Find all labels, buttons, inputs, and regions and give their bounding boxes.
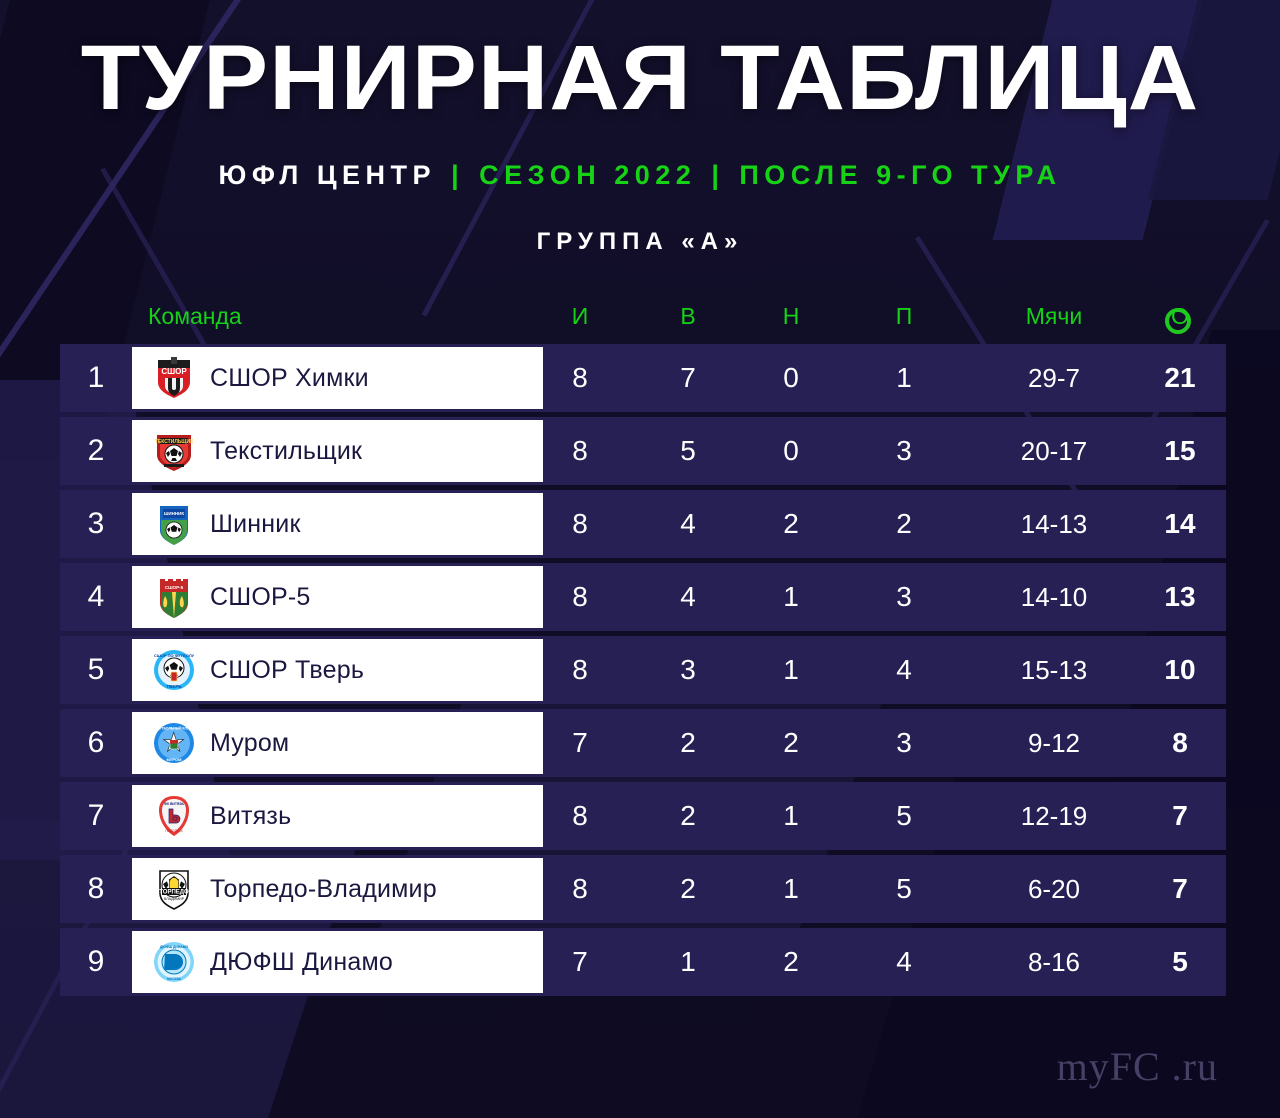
row-goals: 12-19 <box>1010 782 1098 850</box>
row-won: 3 <box>668 636 708 704</box>
vityaz-logo: ФК ВИТЯЗЬ ПОДОЛЬСК <box>152 794 196 838</box>
svg-text:ВЛАДИМИР: ВЛАДИМИР <box>164 897 185 901</box>
row-rank: 3 <box>60 490 132 558</box>
row-points: 15 <box>1160 417 1200 485</box>
row-drawn: 1 <box>771 855 811 923</box>
column-header-lost: П <box>884 296 924 336</box>
row-rank: 8 <box>60 855 132 923</box>
row-points: 13 <box>1160 563 1200 631</box>
row-goals: 29-7 <box>1010 344 1098 412</box>
svg-text:СШОР-5: СШОР-5 <box>165 585 184 590</box>
row-rank: 1 <box>60 344 132 412</box>
row-played: 8 <box>560 417 600 485</box>
team-cell[interactable]: ДЮФШ ДИНАМО МОСКВА ДЮФШ Динамо <box>132 931 543 993</box>
row-won: 1 <box>668 928 708 996</box>
column-header-team: Команда <box>148 296 242 336</box>
row-points: 8 <box>1160 709 1200 777</box>
table-row[interactable]: 4 СШОР-5 СШОР-5841314-1013 <box>60 563 1226 631</box>
watermark: myFC .ru <box>1057 1043 1218 1090</box>
row-drawn: 2 <box>771 709 811 777</box>
team-name: Витязь <box>210 802 291 831</box>
row-lost: 5 <box>884 855 924 923</box>
team-name: Текстильщик <box>210 437 362 466</box>
svg-text:СШОР: СШОР <box>161 367 187 376</box>
table-row[interactable]: 7 ФК ВИТЯЗЬ ПОДОЛЬСК Витязь821512-197 <box>60 782 1226 850</box>
row-goals: 14-13 <box>1010 490 1098 558</box>
svg-text:ПОДОЛЬСК: ПОДОЛЬСК <box>165 829 183 833</box>
svg-text:ТВЕРЬ: ТВЕРЬ <box>166 684 182 689</box>
team-cell[interactable]: ТОРПЕДО ВЛАДИМИР Торпедо-Владимир <box>132 858 543 920</box>
row-played: 8 <box>560 563 600 631</box>
svg-text:ДЮФШ ДИНАМО: ДЮФШ ДИНАМО <box>160 945 189 949</box>
standings-infographic: ТУРНИРНАЯ ТАБЛИЦА ЮФЛ ЦЕНТР | СЕЗОН 2022… <box>0 0 1280 1118</box>
row-rank: 5 <box>60 636 132 704</box>
row-points: 14 <box>1160 490 1200 558</box>
subtitle-separator-1: | <box>451 160 464 190</box>
team-cell[interactable]: СШОР СШОР Химки <box>132 347 543 409</box>
table-row[interactable]: 3 ШИННИК Шинник842214-1314 <box>60 490 1226 558</box>
row-lost: 3 <box>884 417 924 485</box>
row-goals: 15-13 <box>1010 636 1098 704</box>
row-drawn: 1 <box>771 563 811 631</box>
row-goals: 9-12 <box>1010 709 1098 777</box>
row-won: 7 <box>668 344 708 412</box>
sshor-himki-logo: СШОР <box>152 356 196 400</box>
table-row[interactable]: 2 ТЕКСТИЛЬЩИК Текстильщик850320-1715 <box>60 417 1226 485</box>
row-played: 8 <box>560 782 600 850</box>
row-played: 8 <box>560 636 600 704</box>
column-header-played: И <box>560 296 600 336</box>
subtitle: ЮФЛ ЦЕНТР | СЕЗОН 2022 | ПОСЛЕ 9-ГО ТУРА <box>0 160 1280 191</box>
row-rank: 4 <box>60 563 132 631</box>
row-lost: 3 <box>884 709 924 777</box>
team-name: Муром <box>210 729 289 758</box>
row-goals: 8-16 <box>1010 928 1098 996</box>
row-drawn: 2 <box>771 928 811 996</box>
shinnik-logo: ШИННИК <box>152 502 196 546</box>
row-points: 7 <box>1160 782 1200 850</box>
row-drawn: 0 <box>771 417 811 485</box>
team-name: СШОР Тверь <box>210 656 364 685</box>
row-played: 7 <box>560 928 600 996</box>
row-lost: 4 <box>884 928 924 996</box>
svg-text:ШИННИК: ШИННИК <box>164 511 184 516</box>
group-label: ГРУППА «А» <box>0 228 1280 256</box>
row-won: 5 <box>668 417 708 485</box>
team-cell[interactable]: СШОР-5 СШОР-5 <box>132 566 543 628</box>
team-cell[interactable]: СШОР ПО ФУТБОЛУ ТВЕРЬ СШОР Тверь <box>132 639 543 701</box>
row-lost: 5 <box>884 782 924 850</box>
svg-text:ТОРПЕДО: ТОРПЕДО <box>159 890 189 896</box>
row-played: 8 <box>560 490 600 558</box>
svg-text:МУРОМ: МУРОМ <box>167 757 183 762</box>
svg-text:СШОР ПО ФУТБОЛУ: СШОР ПО ФУТБОЛУ <box>154 653 195 658</box>
svg-text:ТЕКСТИЛЬЩИК: ТЕКСТИЛЬЩИК <box>155 439 194 445</box>
dyufsh-dinamo-logo: ДЮФШ ДИНАМО МОСКВА <box>152 940 196 984</box>
row-points: 21 <box>1160 344 1200 412</box>
column-header-drawn: Н <box>771 296 811 336</box>
team-cell[interactable]: ШИННИК Шинник <box>132 493 543 555</box>
tekstilshchik-logo: ТЕКСТИЛЬЩИК <box>152 429 196 473</box>
table-row[interactable]: 9 ДЮФШ ДИНАМО МОСКВА ДЮФШ Динамо71248-16… <box>60 928 1226 996</box>
row-points: 7 <box>1160 855 1200 923</box>
svg-text:ФК ВИТЯЗЬ: ФК ВИТЯЗЬ <box>164 802 184 806</box>
team-name: Шинник <box>210 510 301 539</box>
subtitle-separator-2: | <box>711 160 724 190</box>
subtitle-round: ПОСЛЕ 9-ГО ТУРА <box>739 160 1061 190</box>
row-points: 5 <box>1160 928 1200 996</box>
table-row[interactable]: 1 СШОР СШОР Химки870129-721 <box>60 344 1226 412</box>
row-points: 10 <box>1160 636 1200 704</box>
row-won: 2 <box>668 782 708 850</box>
row-won: 2 <box>668 709 708 777</box>
row-lost: 4 <box>884 636 924 704</box>
row-rank: 2 <box>60 417 132 485</box>
row-won: 4 <box>668 490 708 558</box>
row-won: 4 <box>668 563 708 631</box>
sshor-5-logo: СШОР-5 <box>152 575 196 619</box>
row-rank: 6 <box>60 709 132 777</box>
row-drawn: 1 <box>771 782 811 850</box>
row-lost: 3 <box>884 563 924 631</box>
team-name: ДЮФШ Динамо <box>210 948 393 977</box>
svg-text:МОСКВА: МОСКВА <box>167 977 182 981</box>
row-played: 7 <box>560 709 600 777</box>
page-title: ТУРНИРНАЯ ТАБЛИЦА <box>0 30 1280 126</box>
row-drawn: 0 <box>771 344 811 412</box>
standings-rows: 1 СШОР СШОР Химки870129-7212 ТЕКСТИЛЬЩИК… <box>60 344 1226 996</box>
column-header-points: О <box>1160 296 1200 336</box>
team-cell[interactable]: ТЕКСТИЛЬЩИК Текстильщик <box>132 420 543 482</box>
team-name: СШОР-5 <box>210 583 311 612</box>
row-played: 8 <box>560 344 600 412</box>
table-row[interactable]: 8 ТОРПЕДО ВЛАДИМИР Торпедо-Владимир82156… <box>60 855 1226 923</box>
row-rank: 9 <box>60 928 132 996</box>
table-header-row: Команда И В Н П Мячи О <box>60 296 1226 344</box>
row-goals: 6-20 <box>1010 855 1098 923</box>
table-row[interactable]: 6 ФУТБОЛЬНЫЙ КЛУБ МУРОМ Муром72239-128 <box>60 709 1226 777</box>
row-played: 8 <box>560 855 600 923</box>
standings-table: Команда И В Н П Мячи О 1 СШОР СШОР Химки… <box>60 296 1226 1001</box>
column-header-goals: Мячи <box>1010 296 1098 336</box>
svg-text:ФУТБОЛЬНЫЙ КЛУБ: ФУТБОЛЬНЫЙ КЛУБ <box>157 727 192 731</box>
table-row[interactable]: 5 СШОР ПО ФУТБОЛУ ТВЕРЬ СШОР Тверь831415… <box>60 636 1226 704</box>
team-cell[interactable]: ФК ВИТЯЗЬ ПОДОЛЬСК Витязь <box>132 785 543 847</box>
column-header-won: В <box>668 296 708 336</box>
sshor-tver-logo: СШОР ПО ФУТБОЛУ ТВЕРЬ <box>152 648 196 692</box>
murom-logo: ФУТБОЛЬНЫЙ КЛУБ МУРОМ <box>152 721 196 765</box>
subtitle-league: ЮФЛ ЦЕНТР <box>219 160 437 190</box>
row-rank: 7 <box>60 782 132 850</box>
torpedo-vladimir-logo: ТОРПЕДО ВЛАДИМИР <box>152 867 196 911</box>
row-goals: 20-17 <box>1010 417 1098 485</box>
team-name: Торпедо-Владимир <box>210 875 437 904</box>
row-lost: 2 <box>884 490 924 558</box>
subtitle-season: СЕЗОН 2022 <box>479 160 696 190</box>
team-name: СШОР Химки <box>210 364 369 393</box>
team-cell[interactable]: ФУТБОЛЬНЫЙ КЛУБ МУРОМ Муром <box>132 712 543 774</box>
row-won: 2 <box>668 855 708 923</box>
row-drawn: 2 <box>771 490 811 558</box>
row-goals: 14-10 <box>1010 563 1098 631</box>
row-drawn: 1 <box>771 636 811 704</box>
row-lost: 1 <box>884 344 924 412</box>
